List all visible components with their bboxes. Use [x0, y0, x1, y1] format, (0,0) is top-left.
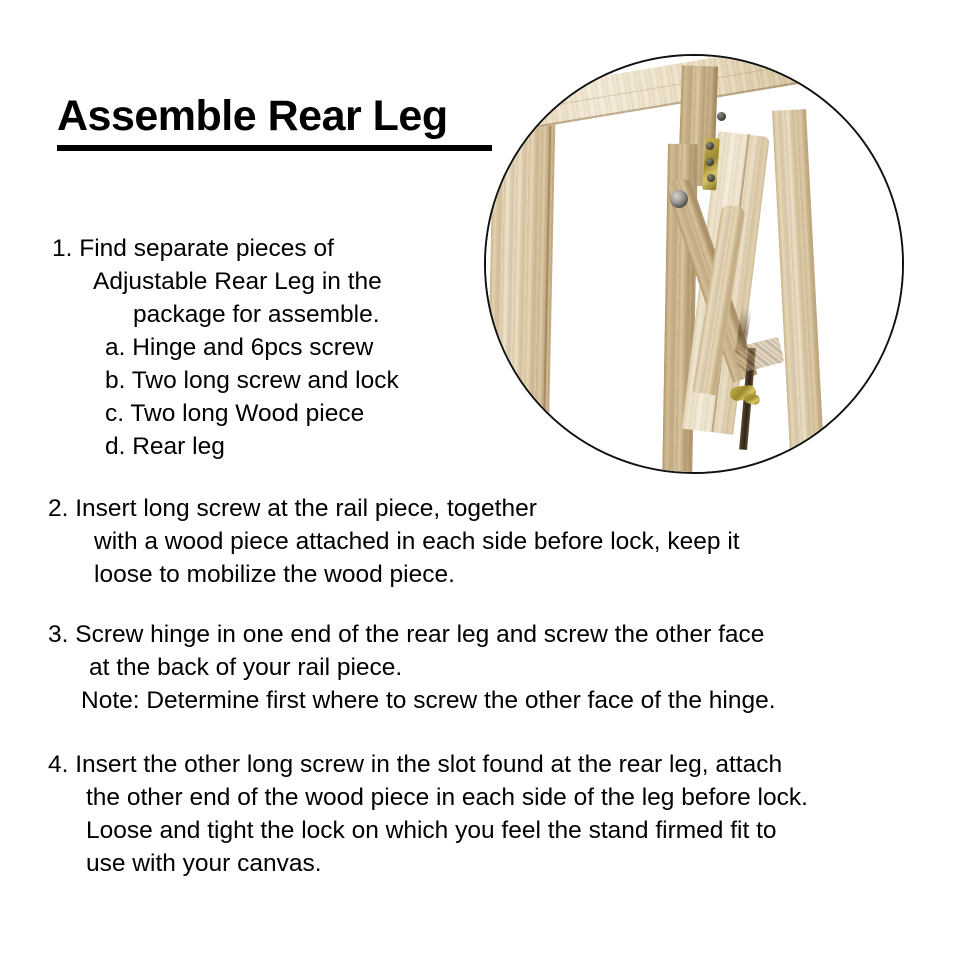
instruction-step-1: 1. Find separate pieces of Adjustable Re…: [52, 232, 399, 463]
instruction-step-3: 3. Screw hinge in one end of the rear le…: [48, 618, 776, 717]
step-4-line-2: the other end of the wood piece in each …: [86, 781, 808, 814]
step-4-line-3: Loose and tight the lock on which you fe…: [86, 814, 808, 847]
step-1-line-1: 1. Find separate pieces of: [52, 232, 399, 265]
instruction-sheet: Assemble Rear Leg 1. Find separate piece…: [0, 0, 960, 960]
step-1-sub-item-b: b. Two long screw and lock: [105, 364, 399, 397]
hinge-screw-middle: [706, 158, 714, 166]
step-1-sub-item-d: d. Rear leg: [105, 430, 399, 463]
pivot-bolt: [670, 190, 688, 208]
step-1-line-3: package for assemble.: [133, 298, 399, 331]
step-1-sub-item-a: a. Hinge and 6pcs screw: [105, 331, 399, 364]
hinge-screw-bottom: [707, 174, 715, 182]
step-1-line-2: Adjustable Rear Leg in the: [93, 265, 399, 298]
photo-content: [486, 56, 902, 472]
step-2-line-1: 2. Insert long screw at the rail piece, …: [48, 492, 740, 525]
instruction-step-4: 4. Insert the other long screw in the sl…: [48, 748, 808, 880]
step-4-line-4: use with your canvas.: [86, 847, 808, 880]
rail-screw: [717, 112, 726, 121]
step-2-line-2: with a wood piece attached in each side …: [94, 525, 740, 558]
step-1-sub-item-c: c. Two long Wood piece: [105, 397, 399, 430]
step-2-line-3: loose to mobilize the wood piece.: [94, 558, 740, 591]
hinge-screw-top: [706, 142, 714, 150]
rear-upright-right: [772, 109, 825, 470]
step-3-line-1: 3. Screw hinge in one end of the rear le…: [48, 618, 776, 651]
horizontal-rail: [507, 54, 809, 132]
step-3-note: Note: Determine first where to screw the…: [81, 684, 776, 717]
instruction-step-2: 2. Insert long screw at the rail piece, …: [48, 492, 740, 591]
step-3-line-2: at the back of your rail piece.: [89, 651, 776, 684]
easel-assembly-photo: [484, 54, 904, 474]
step-4-line-1: 4. Insert the other long screw in the sl…: [48, 748, 808, 781]
